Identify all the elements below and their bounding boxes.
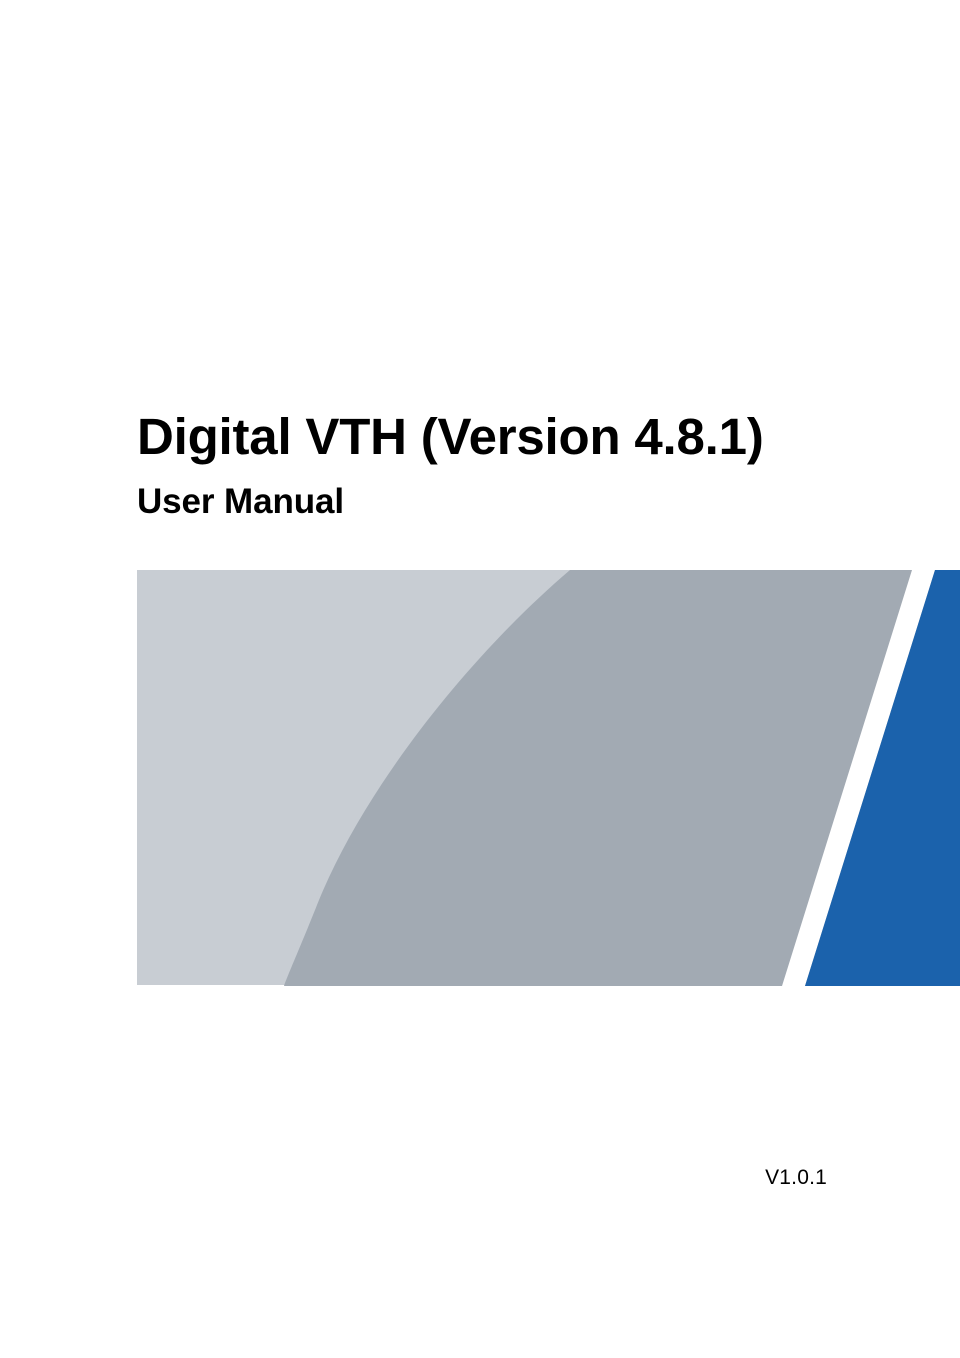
document-version: V1.0.1 <box>0 1166 827 1190</box>
cover-banner-graphic <box>137 570 960 986</box>
title-block: Digital VTH (Version 4.8.1) User Manual <box>137 408 897 522</box>
cover-page: Digital VTH (Version 4.8.1) User Manual … <box>0 0 960 1358</box>
page-title: Digital VTH (Version 4.8.1) <box>137 408 897 465</box>
page-subtitle: User Manual <box>137 465 897 522</box>
